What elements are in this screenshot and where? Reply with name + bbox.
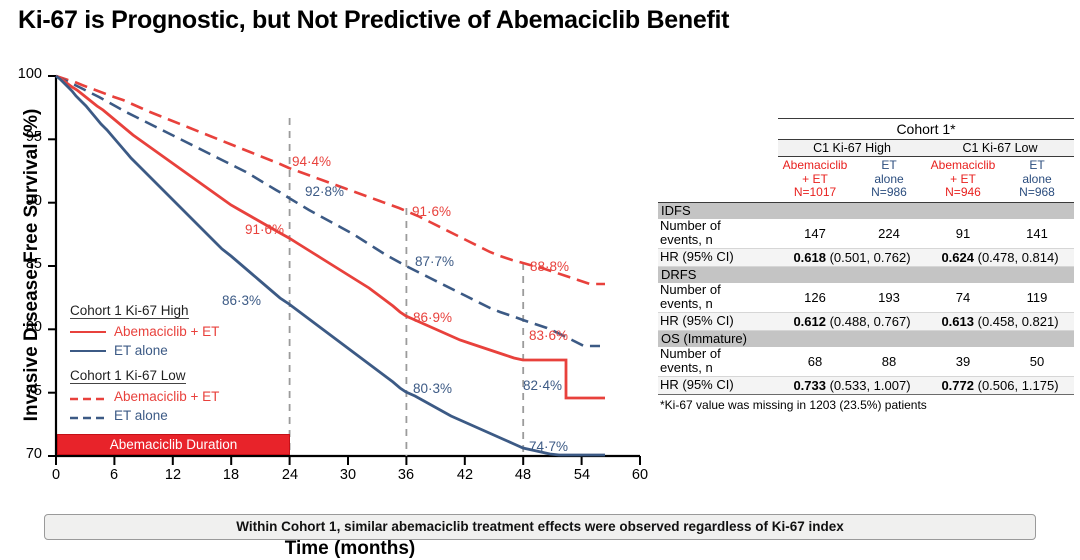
chart-legend: Cohort 1 Ki-67 High Abemaciclib + ET ET …	[70, 303, 270, 425]
legend-group-ki67-low: Cohort 1 Ki-67 Low	[70, 368, 186, 384]
x-tick-18: 18	[211, 467, 251, 483]
annotation-916-36m: 91·6%	[412, 204, 451, 219]
annotation-877: 87·7%	[415, 254, 454, 269]
table-row: Number of events, n 68 88 39 50	[658, 347, 1074, 377]
annotation-863: 86·3%	[222, 293, 261, 308]
annotation-944: 94·4%	[292, 154, 331, 169]
row-label-hr: HR (95% CI)	[658, 312, 778, 330]
hr-value: 0.733	[793, 378, 826, 393]
annotation-836: 83·6%	[529, 328, 568, 343]
x-tick-60: 60	[620, 467, 660, 483]
cell-idfs-events-high-abema: 147	[778, 219, 852, 249]
table-row-group-header: C1 Ki-67 High C1 Ki-67 Low	[658, 140, 1074, 157]
arm-n: N=968	[1019, 185, 1055, 199]
arm-header-low-abemaciclib: Abemaciclib + ET N=946	[926, 157, 1000, 203]
hr-value: 0.612	[793, 314, 826, 329]
cell-idfs-hr-high: 0.618 (0.501, 0.762)	[778, 248, 926, 266]
row-label-line1: Number of	[660, 218, 721, 233]
row-label-events: Number of events, n	[658, 219, 778, 249]
hr-ci: (0.501, 0.762)	[826, 250, 911, 265]
legend-item-low-abemaciclib: Abemaciclib + ET	[70, 387, 270, 406]
annotation-747: 74·7%	[529, 439, 568, 454]
cell-idfs-events-low-et: 141	[1000, 219, 1074, 249]
cell-drfs-events-high-et: 193	[852, 283, 926, 313]
hr-value: 0.624	[941, 250, 974, 265]
cell-os-hr-high: 0.733 (0.533, 1.007)	[778, 376, 926, 394]
cell-idfs-events-high-et: 224	[852, 219, 926, 249]
group-header-ki67-low: C1 Ki-67 Low	[926, 140, 1074, 157]
table-row-arm-header: Abemaciclib + ET N=1017 ET alone N=986 A…	[658, 157, 1074, 203]
takeaway-banner: Within Cohort 1, similar abemaciclib tre…	[44, 514, 1036, 540]
y-axis-title: Invasive Disease-Free Survival (%)	[21, 65, 43, 465]
table-row: HR (95% CI) 0.618 (0.501, 0.762) 0.624 (…	[658, 248, 1074, 266]
x-tick-0: 0	[36, 467, 76, 483]
hr-value: 0.772	[941, 378, 974, 393]
abemaciclib-duration-bar: Abemaciclib Duration	[57, 434, 290, 455]
results-table-panel: Cohort 1* C1 Ki-67 High C1 Ki-67 Low Abe…	[658, 118, 1074, 412]
arm-header-high-abemaciclib: Abemaciclib + ET N=1017	[778, 157, 852, 203]
annotation-928: 92·8%	[305, 184, 344, 199]
annotation-888: 88·8%	[530, 259, 569, 274]
cell-idfs-events-low-abema: 91	[926, 219, 1000, 249]
page-title: Ki-67 is Prognostic, but Not Predictive …	[18, 6, 1062, 35]
legend-item-low-et-alone: ET alone	[70, 406, 270, 425]
line-swatch-blue-solid-icon	[70, 346, 106, 356]
arm-name-line2: alone	[1022, 172, 1051, 186]
arm-name-line1: ET	[881, 158, 896, 172]
hr-ci: (0.458, 0.821)	[974, 314, 1059, 329]
table-section-idfs: IDFS	[658, 202, 1074, 219]
hr-ci: (0.478, 0.814)	[974, 250, 1059, 265]
arm-n: N=986	[871, 185, 907, 199]
cell-drfs-hr-high: 0.612 (0.488, 0.767)	[778, 312, 926, 330]
legend-spacer	[70, 360, 270, 368]
cell-drfs-events-low-et: 119	[1000, 283, 1074, 313]
table-row: Number of events, n 126 193 74 119	[658, 283, 1074, 313]
legend-label-low-abemaciclib: Abemaciclib + ET	[114, 389, 219, 404]
cell-os-events-high-et: 88	[852, 347, 926, 377]
row-label-hr: HR (95% CI)	[658, 248, 778, 266]
cell-idfs-hr-low: 0.624 (0.478, 0.814)	[926, 248, 1074, 266]
arm-n: N=1017	[794, 185, 836, 199]
arm-n: N=946	[945, 185, 981, 199]
row-label-line2: events, n	[660, 296, 713, 311]
hr-ci: (0.506, 1.175)	[974, 378, 1059, 393]
row-label-events: Number of events, n	[658, 283, 778, 313]
table-row: Number of events, n 147 224 91 141	[658, 219, 1074, 249]
cell-os-events-low-abema: 39	[926, 347, 1000, 377]
x-tick-36: 36	[386, 467, 426, 483]
x-tick-30: 30	[328, 467, 368, 483]
table-row-cohort-header: Cohort 1*	[658, 119, 1074, 140]
x-tick-42: 42	[445, 467, 485, 483]
hr-ci: (0.488, 0.767)	[826, 314, 911, 329]
results-table: Cohort 1* C1 Ki-67 High C1 Ki-67 Low Abe…	[658, 118, 1074, 395]
annotation-803: 80·3%	[413, 381, 452, 396]
arm-header-high-et-alone: ET alone N=986	[852, 157, 926, 203]
arm-name-line2: + ET	[950, 172, 976, 186]
hr-ci: (0.533, 1.007)	[826, 378, 911, 393]
cell-os-events-high-abema: 68	[778, 347, 852, 377]
legend-label-high-abemaciclib: Abemaciclib + ET	[114, 324, 219, 339]
legend-item-high-et-alone: ET alone	[70, 341, 270, 360]
line-swatch-blue-dashed-icon	[70, 411, 106, 421]
x-tick-48: 48	[503, 467, 543, 483]
x-tick-12: 12	[153, 467, 193, 483]
legend-item-high-abemaciclib: Abemaciclib + ET	[70, 322, 270, 341]
arm-name-line2: alone	[874, 172, 903, 186]
row-label-hr: HR (95% CI)	[658, 376, 778, 394]
row-label-line2: events, n	[660, 232, 713, 247]
row-label-events: Number of events, n	[658, 347, 778, 377]
cell-drfs-events-high-abema: 126	[778, 283, 852, 313]
survival-chart: 100 95 90 85 80 75 70 0 6 12 18 24 30 36…	[0, 58, 660, 503]
cell-drfs-events-low-abema: 74	[926, 283, 1000, 313]
table-row: HR (95% CI) 0.612 (0.488, 0.767) 0.613 (…	[658, 312, 1074, 330]
row-label-line1: Number of	[660, 346, 721, 361]
legend-label-low-et-alone: ET alone	[114, 408, 168, 423]
hr-value: 0.613	[941, 314, 974, 329]
table-row: HR (95% CI) 0.733 (0.533, 1.007) 0.772 (…	[658, 376, 1074, 394]
x-tick-6: 6	[94, 467, 134, 483]
x-axis-title: Time (months)	[55, 538, 645, 560]
section-label-idfs: IDFS	[658, 202, 1074, 219]
table-footnote: *Ki-67 value was missing in 1203 (23.5%)…	[658, 398, 1074, 412]
x-tick-24: 24	[270, 467, 310, 483]
arm-name-line1: ET	[1029, 158, 1044, 172]
cell-os-events-low-et: 50	[1000, 347, 1074, 377]
cell-drfs-hr-low: 0.613 (0.458, 0.821)	[926, 312, 1074, 330]
cohort-header-cell: Cohort 1*	[778, 119, 1074, 140]
hr-value: 0.618	[793, 250, 826, 265]
arm-name-line1: Abemaciclib	[931, 158, 996, 172]
arm-header-low-et-alone: ET alone N=968	[1000, 157, 1074, 203]
section-label-os: OS (Immature)	[658, 330, 1074, 347]
section-label-drfs: DRFS	[658, 266, 1074, 283]
cell-os-hr-low: 0.772 (0.506, 1.175)	[926, 376, 1074, 394]
arm-name-line1: Abemaciclib	[783, 158, 848, 172]
arm-name-line2: + ET	[802, 172, 828, 186]
row-label-line2: events, n	[660, 360, 713, 375]
table-section-os: OS (Immature)	[658, 330, 1074, 347]
legend-group-ki67-high: Cohort 1 Ki-67 High	[70, 303, 189, 319]
x-tick-54: 54	[562, 467, 602, 483]
row-label-line1: Number of	[660, 282, 721, 297]
legend-label-high-et-alone: ET alone	[114, 343, 168, 358]
annotation-824: 82·4%	[523, 378, 562, 393]
annotation-916-24m: 91·6%	[245, 222, 284, 237]
line-swatch-red-dashed-icon	[70, 392, 106, 402]
group-header-ki67-high: C1 Ki-67 High	[778, 140, 926, 157]
table-section-drfs: DRFS	[658, 266, 1074, 283]
annotation-869: 86·9%	[413, 310, 452, 325]
line-swatch-red-solid-icon	[70, 327, 106, 337]
